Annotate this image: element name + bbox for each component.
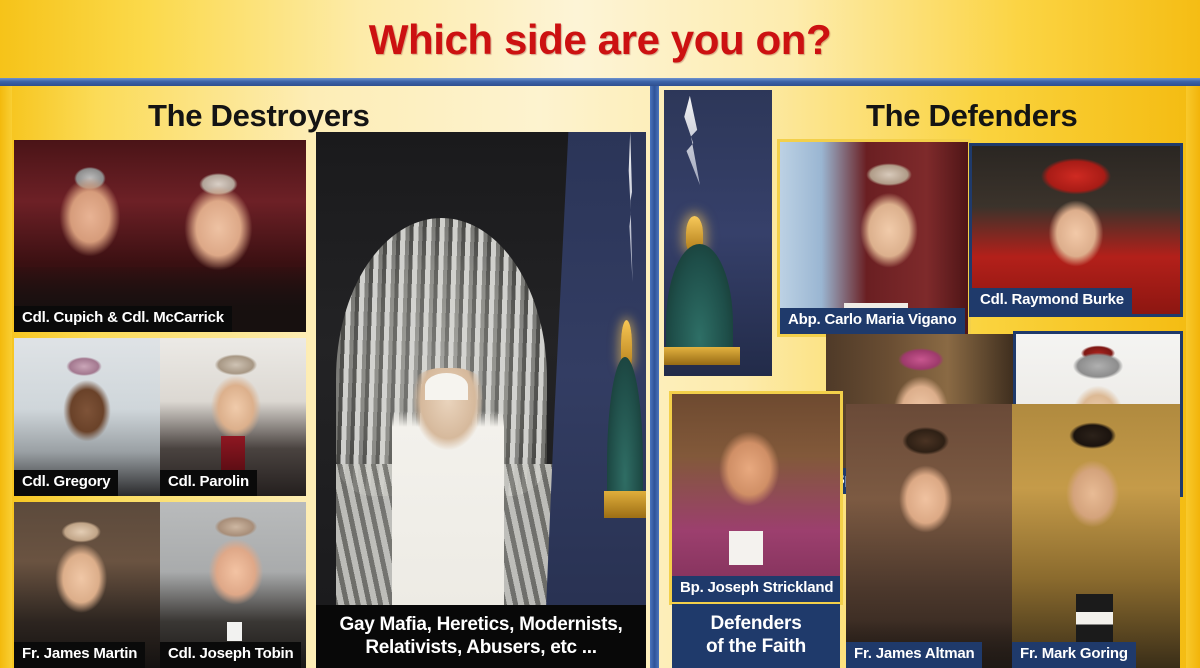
photo-caption: Fr. Mark Goring [1012, 642, 1136, 668]
pope-figure [392, 368, 504, 636]
panel-divider [650, 86, 659, 668]
photo-joseph-tobin[interactable]: Cdl. Joseph Tobin [160, 502, 306, 668]
photo-vigano[interactable]: Abp. Carlo Maria Vigano [780, 142, 968, 334]
photo-caption: Cdl. Joseph Tobin [160, 642, 301, 668]
photo-image [14, 140, 306, 332]
lightning-bolt-icon [677, 96, 705, 228]
photo-image [672, 394, 840, 602]
photo-image [316, 132, 646, 668]
photo-image [780, 142, 968, 334]
photo-caption: Fr. James Martin [14, 642, 145, 668]
photo-image [846, 404, 1012, 668]
photo-caption: Bp. Joseph Strickland [672, 576, 840, 602]
photo-image [664, 90, 772, 376]
photo-goring[interactable]: Fr. Mark Goring [1012, 404, 1180, 668]
dome-base [604, 491, 646, 518]
photo-st-peters-dome-night[interactable] [664, 90, 772, 376]
photo-caption: Abp. Carlo Maria Vigano [780, 308, 965, 334]
destroyers-heading: The Destroyers [148, 98, 370, 134]
photo-caption: Cdl. Parolin [160, 470, 257, 496]
center-caption-line2: Relativists, Abusers, etc ... [322, 636, 640, 659]
page-title: Which side are you on? [0, 6, 1200, 74]
center-caption: Gay Mafia, Heretics, Modernists, Relativ… [316, 605, 646, 668]
poster-canvas: Which side are you on? The Destroyers Th… [0, 0, 1200, 668]
photo-caption: Fr. James Altman [846, 642, 982, 668]
center-caption-line1: Gay Mafia, Heretics, Modernists, [322, 613, 640, 636]
left-gold-edge [0, 86, 12, 668]
photo-cupich-mccarrick[interactable]: Cdl. Cupich & Cdl. McCarrick [14, 140, 306, 332]
lightning-bolt-icon [627, 132, 634, 346]
photo-pope-on-iron-throne[interactable]: Gay Mafia, Heretics, Modernists, Relativ… [316, 132, 646, 668]
dome-base [664, 347, 740, 364]
defenders-heading: The Defenders [866, 98, 1077, 134]
photo-image [1012, 404, 1180, 668]
right-gold-edge [1186, 86, 1200, 668]
defenders-of-the-faith-badge: Defenders of the Faith [672, 604, 840, 668]
st-peters-dome [607, 357, 643, 507]
photo-altman[interactable]: Fr. James Altman [846, 404, 1012, 668]
header-blue-rule [0, 78, 1200, 86]
badge-line2: of the Faith [706, 636, 806, 659]
photo-strickland[interactable]: Bp. Joseph Strickland [672, 394, 840, 602]
photo-james-martin[interactable]: Fr. James Martin [14, 502, 160, 668]
photo-caption: Cdl. Raymond Burke [972, 288, 1132, 314]
st-peters-dome [666, 244, 733, 358]
photo-caption: Cdl. Cupich & Cdl. McCarrick [14, 306, 232, 332]
photo-parolin[interactable]: Cdl. Parolin [160, 338, 306, 496]
photo-caption: Cdl. Gregory [14, 470, 118, 496]
photo-gregory[interactable]: Cdl. Gregory [14, 338, 160, 496]
photo-burke[interactable]: Cdl. Raymond Burke [972, 146, 1180, 314]
badge-line1: Defenders [710, 613, 801, 636]
pope-zucchetto [425, 373, 468, 400]
